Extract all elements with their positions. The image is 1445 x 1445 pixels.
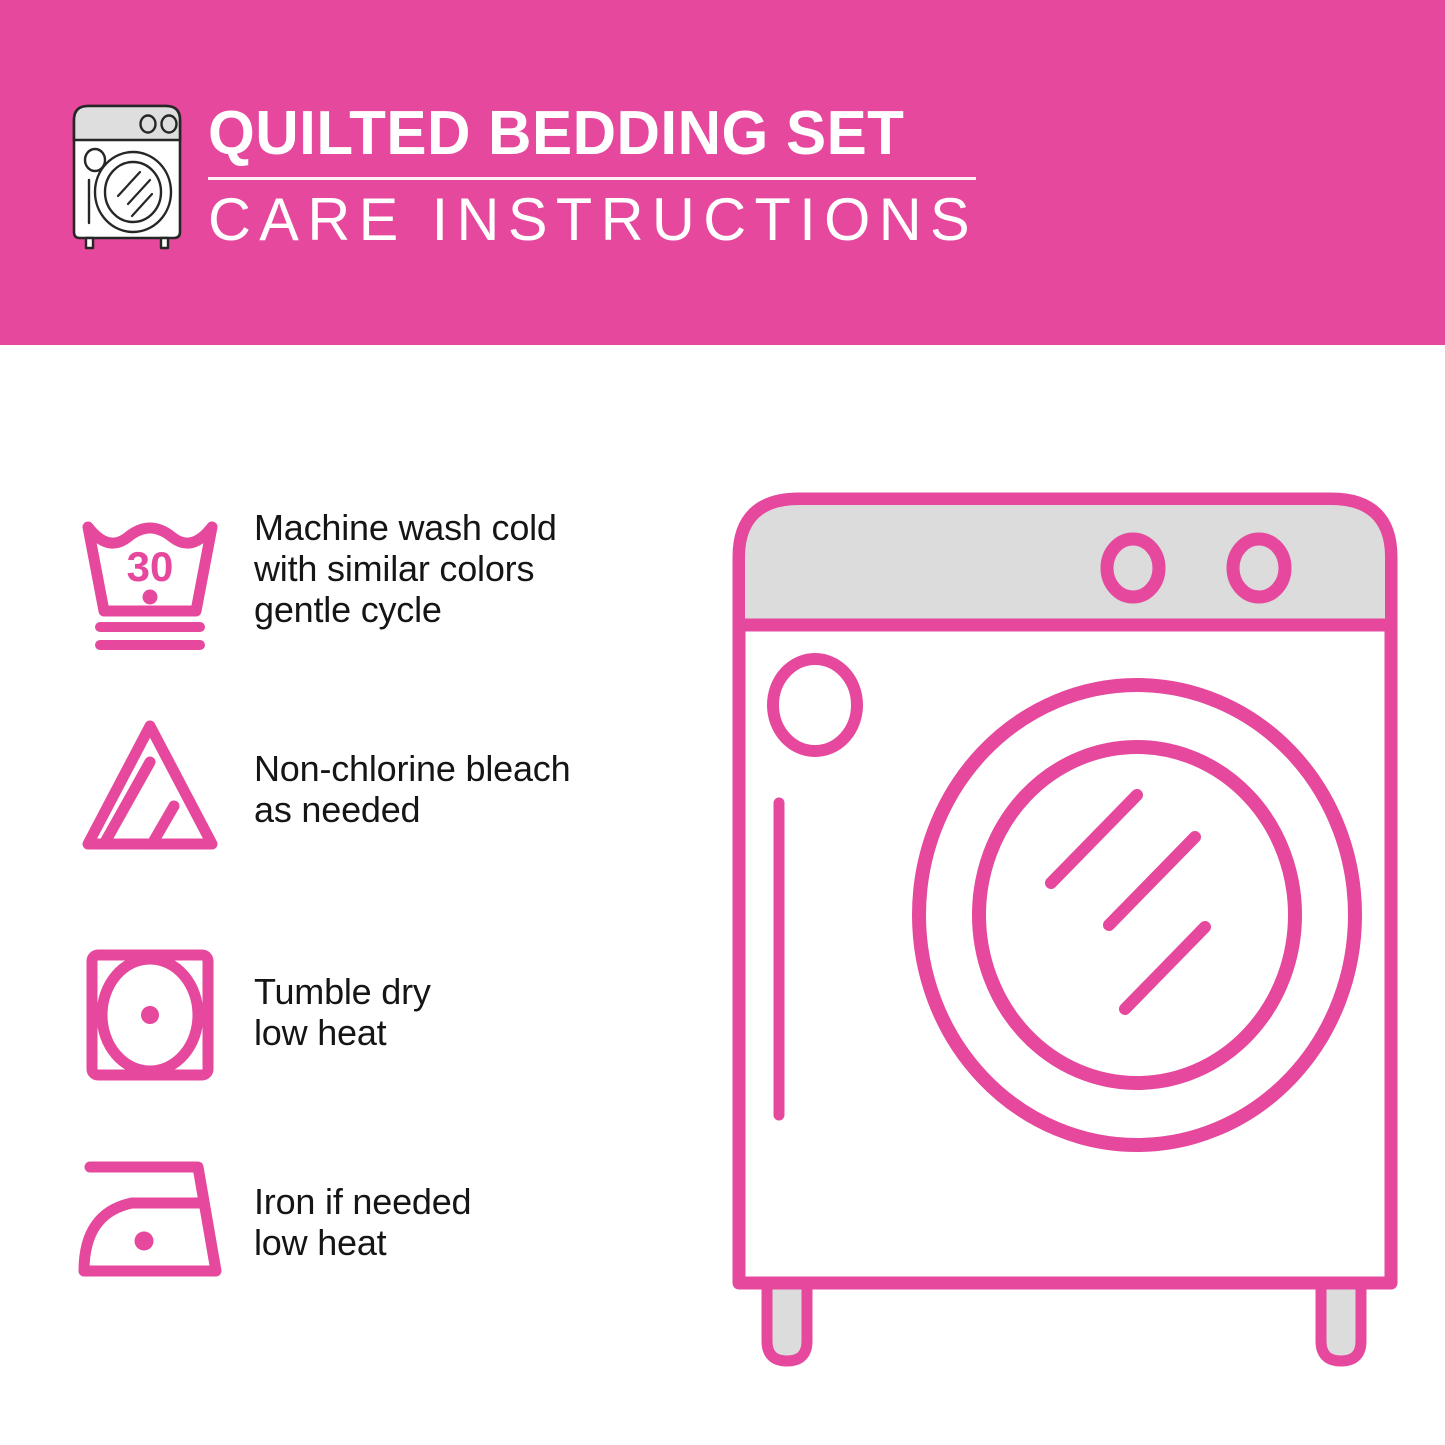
iron-heat-dot-icon (135, 1232, 154, 1251)
header-band: QUILTED BEDDING SET CARE INSTRUCTIONS (0, 0, 1445, 345)
care-instruction-text: Machine wash cold with similar colors ge… (254, 507, 690, 630)
washing-machine-icon (62, 98, 192, 250)
machine-wash-30-icon: 30 (70, 495, 230, 655)
front-load-washing-machine-illustration (705, 465, 1425, 1385)
page-subtitle: CARE INSTRUCTIONS (208, 188, 990, 252)
care-instruction-text: Tumble dry low heat (254, 971, 690, 1053)
tumble-dry-low-icon (70, 935, 230, 1095)
care-instruction-row: Non-chlorine bleach as needed (70, 710, 690, 870)
care-instruction-row: Tumble dry low heat (70, 935, 690, 1095)
care-instruction-text: Non-chlorine bleach as needed (254, 748, 690, 830)
wash-dot-icon (143, 590, 158, 605)
care-instruction-text: Iron if needed low heat (254, 1181, 690, 1263)
care-instruction-list: 30 Machine wash cold with similar colors… (0, 345, 700, 1445)
header-text-block: QUILTED BEDDING SET CARE INSTRUCTIONS (208, 100, 998, 252)
iron-low-heat-icon (70, 1145, 230, 1295)
care-instruction-row: 30 Machine wash cold with similar colors… (70, 495, 690, 655)
care-instruction-row: Iron if needed low heat (70, 1145, 690, 1295)
care-instructions-infographic: QUILTED BEDDING SET CARE INSTRUCTIONS 30… (0, 0, 1445, 1445)
non-chlorine-bleach-triangle-icon (70, 710, 230, 870)
dryer-heat-dot-icon (141, 1006, 159, 1024)
wash-temperature-label: 30 (127, 543, 174, 590)
title-divider (208, 177, 976, 180)
page-title: QUILTED BEDDING SET (208, 100, 974, 168)
